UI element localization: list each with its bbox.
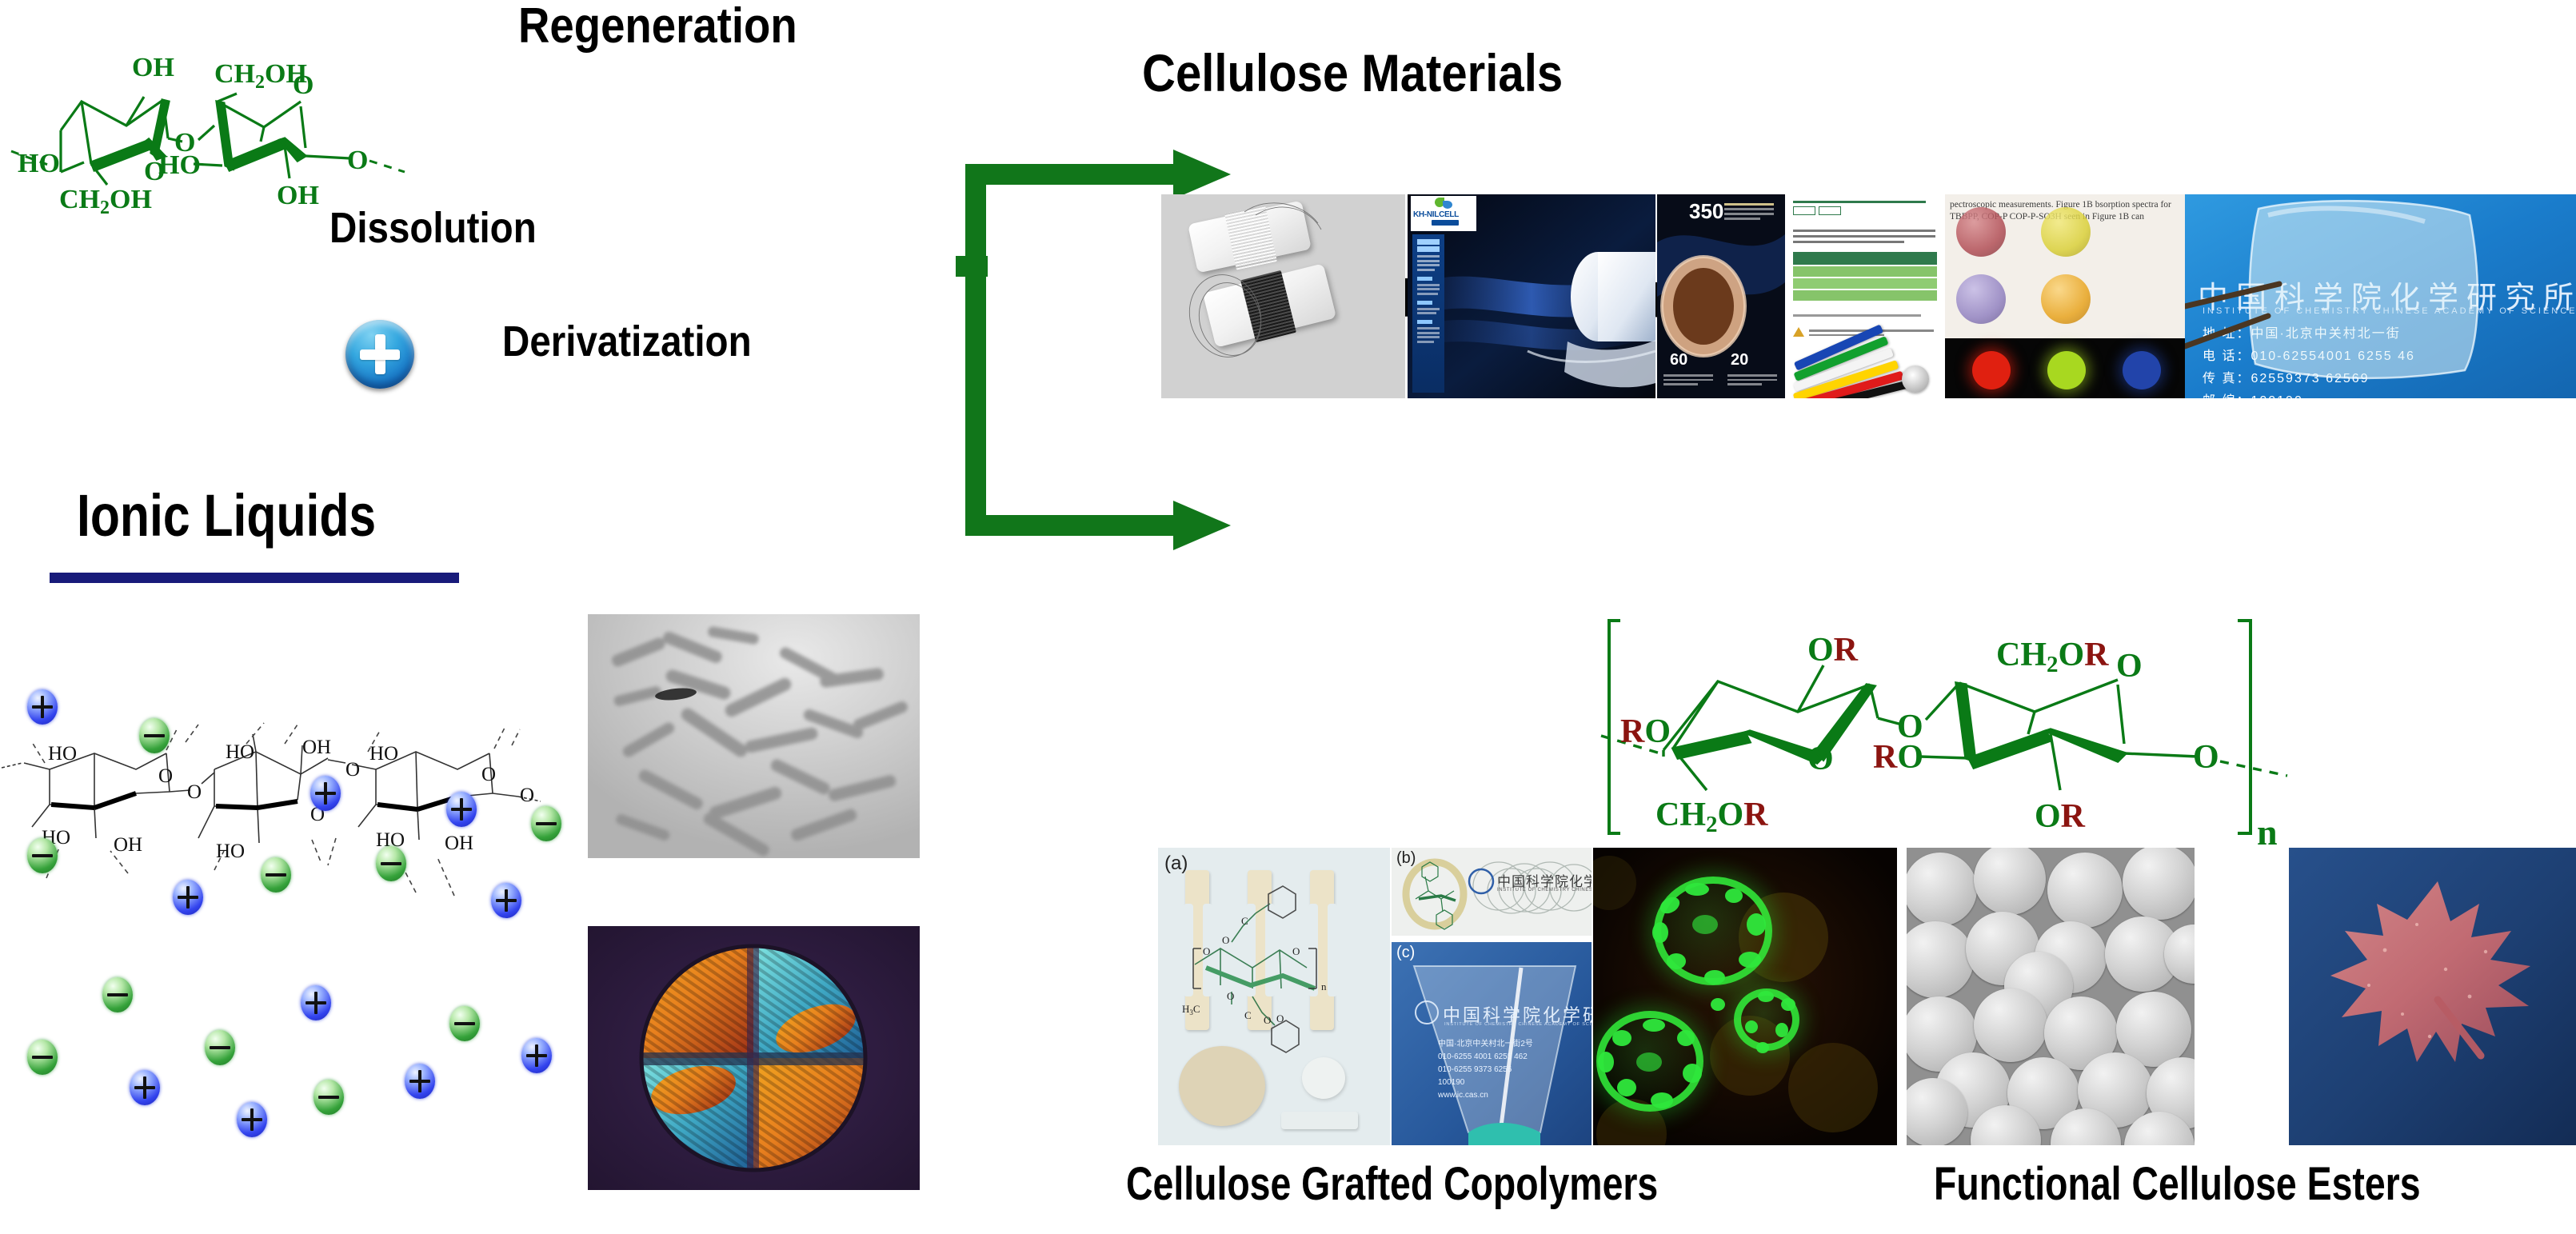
anion-4 — [376, 846, 406, 881]
svg-text:OH: OH — [445, 833, 473, 854]
film-org-en: INSTITUTE OF CHEMISTRY CHINESE ACADEMY O… — [1444, 1022, 1592, 1027]
svg-text:OR: OR — [1807, 632, 1859, 669]
anion-5 — [531, 806, 561, 841]
film-contact-3: 010-6255 9373 6256 — [1438, 1065, 1533, 1074]
svg-text:O: O — [1264, 1014, 1271, 1026]
table-row — [1793, 290, 1937, 301]
anion-8 — [205, 1030, 235, 1065]
tape-core — [1902, 365, 1929, 393]
ionic-liquids-rule — [50, 573, 459, 583]
svg-text:O: O — [345, 759, 360, 781]
svg-text:RO: RO — [1620, 713, 1671, 750]
cellulose-fiber-spools — [1161, 194, 1405, 398]
datasheet-table — [1785, 194, 1945, 398]
label-CH2OH-left: CH2OH — [59, 185, 152, 218]
svg-text:OR: OR — [2035, 798, 2086, 835]
spec-value-60: 60 — [1670, 351, 1687, 369]
label-OH-right: OH — [277, 181, 319, 210]
polarized-light-micrograph — [588, 926, 920, 1190]
cation-5 — [491, 883, 521, 918]
caption-grafted-copolymers: Cellulose Grafted Copolymers — [1126, 1161, 1658, 1208]
svg-text:CH2OR: CH2OR — [1996, 637, 2109, 677]
label-HO-right: HO — [158, 150, 201, 180]
transparent-ester-film: (c) 中国科学院化学研究所 INSTITUTE OF CHEMISTRY CH… — [1392, 942, 1592, 1145]
svg-text:n: n — [1321, 980, 1327, 992]
cellulose-ester-specimens: (a) OO OC OCO OH3C n — [1158, 848, 1390, 1145]
regeneration-label: Regeneration — [518, 2, 797, 51]
emission-disc-red — [1972, 351, 2011, 389]
svg-text:O: O — [1807, 741, 1834, 777]
emission-disc-blue — [2123, 351, 2161, 389]
anion-2 — [27, 838, 58, 873]
datasheet-rows — [1793, 252, 1937, 302]
svg-text:HO: HO — [226, 741, 254, 763]
fluorescent-microspheres — [1593, 848, 1897, 1145]
kh-nilcell-logo-text: KH-NILCELL — [1413, 210, 1459, 219]
label-O-terminal: O — [347, 146, 368, 175]
repeat-subscript: n — [2257, 812, 2278, 853]
svg-text:O: O — [520, 785, 534, 806]
cellulose-derivative-structure: OR RO CH2OR O O CH2OR O RO OR O n — [1544, 616, 2311, 852]
svg-text:C: C — [1244, 1009, 1252, 1021]
kh-nilcell-logo: KH-NILCELL — [1411, 196, 1476, 231]
product-spec-panel: 350 60 20 — [1657, 194, 1785, 398]
svg-text:CH2OR: CH2OR — [1655, 797, 1768, 837]
svg-text:O: O — [1276, 1012, 1284, 1024]
svg-text:O: O — [187, 781, 202, 803]
cation-10 — [521, 1038, 552, 1073]
dissolution-label: Dissolution — [329, 206, 537, 250]
label-OH-left: OH — [132, 53, 174, 82]
sem-microspheres — [1907, 848, 2195, 1145]
svg-text:O: O — [1222, 934, 1229, 946]
svg-text:RO: RO — [1873, 739, 1923, 776]
tem-cellulose-nanocrystals — [588, 614, 920, 858]
cellulose-structure: HO OH CH2OH O O CH2OH O HO OH O — [8, 44, 408, 212]
cation-1 — [27, 689, 58, 725]
derivatization-label: Derivatization — [502, 320, 752, 363]
svg-text:HO: HO — [369, 743, 398, 765]
anion-1 — [139, 718, 170, 753]
label-HO-left: HO — [18, 149, 60, 178]
caption-functional-esters: Functional Cellulose Esters — [1934, 1161, 2421, 1208]
emission-disc-green — [2047, 351, 2086, 389]
cellulose-materials-title: Cellulose Materials — [1142, 46, 1563, 99]
svg-text:O: O — [158, 765, 173, 787]
membrane-disc-yellow — [2041, 207, 2091, 257]
table-row — [1793, 266, 1937, 277]
cation-9 — [405, 1064, 435, 1099]
panel-label-c: (c) — [1396, 944, 1415, 962]
label-ring-O-right: O — [293, 70, 314, 100]
anion-9 — [314, 1080, 344, 1115]
svg-text:H3C: H3C — [1182, 1003, 1200, 1016]
spec-value-20: 20 — [1731, 351, 1748, 369]
cation-6 — [130, 1070, 160, 1105]
cation-2 — [173, 880, 203, 915]
cellulose-ring-sample: (b) 中国科学院化学研究所 INSTITUTE OF CHEMISTRY CH… — [1392, 848, 1592, 936]
svg-text:HO: HO — [48, 743, 77, 765]
svg-text:C: C — [1241, 915, 1248, 927]
svg-text:O: O — [1227, 990, 1234, 1002]
cation-3 — [310, 776, 341, 811]
warning-icon — [1793, 327, 1804, 337]
membrane-disc-orange — [2041, 274, 2091, 324]
ring-iccas-label-en: INSTITUTE OF CHEMISTRY CHINESE ACADEMY O… — [1497, 888, 1592, 893]
ionic-liquids-title: Ionic Liquids — [77, 486, 376, 545]
svg-text:O: O — [481, 764, 496, 785]
svg-text:OH: OH — [114, 834, 142, 856]
membrane-disc-purple — [1956, 274, 2006, 324]
spec-value-350: 350 — [1689, 199, 1723, 224]
brochure-text-panel — [1412, 234, 1444, 393]
film-contact-2: 010-6255 4001 6255 462 — [1438, 1052, 1533, 1061]
cation-7 — [237, 1102, 267, 1137]
maple-leaf-film — [2289, 848, 2576, 1145]
plus-icon — [345, 320, 414, 389]
anion-7 — [27, 1040, 58, 1075]
svg-text:O: O — [1203, 945, 1210, 957]
cation-4 — [446, 792, 477, 827]
cation-8 — [301, 985, 331, 1020]
membrane-disc-red — [1956, 207, 2006, 257]
kh-nilcell-brochure: KH-NILCELL — [1408, 194, 1655, 398]
svg-text:OH: OH — [302, 737, 331, 758]
svg-text:O: O — [1292, 945, 1300, 957]
svg-text:O: O — [2193, 739, 2219, 776]
film-contact-1: 中国·北京中关村北一街2号 — [1438, 1036, 1533, 1048]
film-contact-5: www.ic.cas.cn — [1438, 1091, 1533, 1100]
colored-membrane-discs: pectroscopic measurements. Figure 1B bso… — [1945, 194, 2185, 398]
table-row — [1793, 278, 1937, 289]
anion-3 — [261, 857, 291, 893]
anion-10 — [449, 1006, 480, 1041]
ionic-liquid-scheme: HO O O HO OH HO OH HO O O HO O OH HO O — [0, 656, 560, 1056]
anion-6 — [102, 977, 133, 1012]
svg-text:O: O — [2116, 648, 2143, 685]
film-contact-4: 100190 — [1438, 1078, 1533, 1087]
transparent-cellulose-film: 中国科学院化学研究所 INSTITUTE OF CHEMISTRY CHINES… — [2185, 194, 2576, 398]
